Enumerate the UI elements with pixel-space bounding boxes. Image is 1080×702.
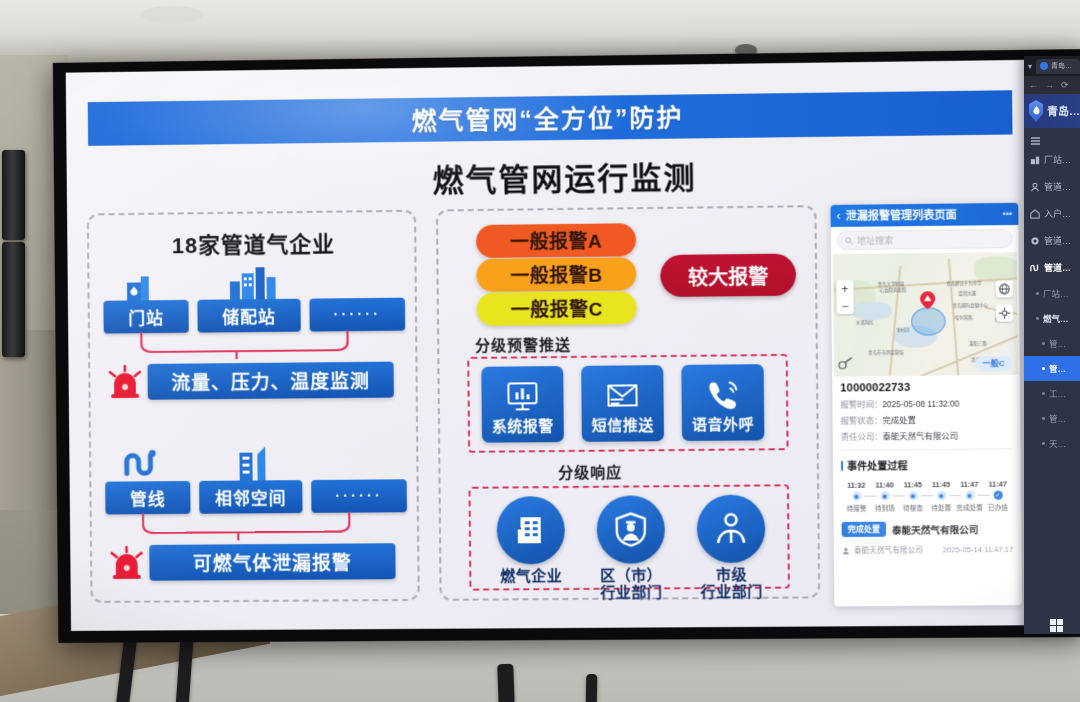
sidebar-item-label: 管道… [1044, 234, 1071, 247]
chip-gate-station[interactable]: 门站 [103, 300, 188, 334]
chip-more-1[interactable]: ······ [309, 298, 405, 332]
bullet-icon [1042, 417, 1045, 420]
detail-label: 报警状态： [841, 415, 883, 425]
sidebar-item-label: 入户… [1044, 207, 1071, 220]
process-entry: 完成处置 泰能天然气有限公司 泰能天然气有限公司 2025-05-14 11:4… [842, 521, 1014, 556]
projection-display: 燃气管网“全方位”防护 燃气管网运行监测 18家管道气企业 [53, 49, 1080, 643]
detail-value: 完成处置 [882, 415, 916, 425]
sidebar-item-label: 管道… [1044, 180, 1071, 193]
app-header-title: 泄漏报警管理列表页面 [846, 206, 998, 224]
map-zoom-controls[interactable]: + − [836, 280, 853, 314]
pipeline-icon [123, 449, 161, 479]
storage-station-icon [228, 265, 278, 301]
chair [586, 674, 598, 702]
map-label: 青岛市市场监管局 [868, 350, 903, 356]
connector-lines-2 [135, 512, 365, 546]
monitoring-result-1[interactable]: 流量、压力、温度监测 [148, 362, 394, 400]
browser-tab-strip: ▾ 青岛… [1024, 56, 1080, 76]
map-label: 青岛国际会展中心 [952, 303, 988, 309]
step-time: 11:47 [983, 480, 1011, 489]
sidebar-item-label: 厂站… [1044, 153, 1071, 166]
bullet-icon [1042, 367, 1045, 370]
arrow-left-icon[interactable]: ← [1029, 80, 1038, 90]
chevron-left-icon[interactable]: ‹ [837, 210, 841, 222]
pipeline-icon [1030, 263, 1040, 273]
timeline-step[interactable]: 11:47 完成处置 [955, 480, 984, 512]
left-panel: 18家管道气企业 [87, 210, 420, 603]
sidebar-subitem[interactable]: 管… [1024, 406, 1080, 431]
detail-value: 泰能天然气有限公司 [883, 431, 958, 442]
right-panel: 一般报警A 一般报警B 一般报警C 较大报警 分级预警推送 [436, 205, 820, 601]
card-label: 短信推送 [592, 414, 654, 436]
more-dots-icon[interactable]: ••• [1003, 209, 1013, 219]
circle-badge [596, 495, 665, 564]
presentation-slide: 燃气管网“全方位”防护 燃气管网运行监测 18家管道气企业 [66, 59, 1073, 631]
chip-storage-station[interactable]: 储配站 [197, 299, 300, 333]
sidebar-subitem-label: 燃气… [1043, 313, 1069, 325]
step-dot-done [993, 491, 1002, 500]
detail-value: 2025-05-08 11:32:00 [882, 399, 959, 410]
timeline-step[interactable]: 11:45 待核查 [899, 480, 928, 512]
app-title-bar: 青岛… [1024, 94, 1080, 128]
push-label: 分级预警推送 [475, 334, 571, 356]
chip-adjacent-space[interactable]: 相邻空间 [199, 480, 302, 514]
sidebar-item-pipeline-marker[interactable]: 管道… [1024, 173, 1080, 200]
org-label-2: 行业部门 [579, 584, 683, 602]
timeline-step[interactable]: 11:47 已办结 [983, 480, 1012, 512]
alarm-radius-circle [911, 307, 946, 335]
org-label: 燃气企业 [479, 568, 583, 586]
step-label: 待接警 [842, 503, 870, 513]
search-input[interactable]: 地址搜索 [837, 229, 1013, 250]
step-dot [965, 491, 974, 500]
chair [497, 664, 515, 702]
sidebar-subitem-selected[interactable]: 管… [1024, 356, 1080, 381]
arrow-right-icon[interactable]: → [1045, 80, 1054, 90]
adjacent-space-icon [235, 444, 275, 480]
ceiling-light [140, 6, 204, 24]
step-label: 已办结 [984, 502, 1012, 512]
alarm-level-badge: 一般C [975, 356, 1011, 371]
alarm-detail: 10000022733 一般C 报警时间：2025-05-08 11:32:00… [832, 375, 1021, 556]
envelope-icon [605, 380, 639, 410]
process-section-title: 事件处置过程 [841, 456, 1013, 472]
section-accent-bar [841, 460, 843, 470]
sidebar-item-label: 管道… [1044, 261, 1071, 274]
mobile-app-panel: ‹ 泄漏报警管理列表页面 ••• 地址搜索 [830, 203, 1022, 607]
org-label: 区（市） [579, 567, 683, 585]
alarm-level-a[interactable]: 一般报警A [476, 223, 636, 258]
sidebar-subitem-label: 厂站… [1043, 288, 1069, 300]
sidebar-subitem[interactable]: 天… [1024, 431, 1080, 456]
bullet-icon [1042, 392, 1045, 395]
gear-icon [1030, 236, 1040, 246]
app-sidebar: 厂站… 管道… 入户… 管道… [1024, 128, 1080, 634]
sidebar-subitem-label: 管… [1049, 413, 1066, 425]
home-icon [1030, 209, 1040, 219]
map-label: 哈尔滨路 [955, 315, 973, 321]
search-placeholder: 地址搜索 [857, 233, 893, 246]
org-label: 市级 [679, 567, 784, 585]
alarm-level-c[interactable]: 一般报警C [477, 291, 637, 326]
shield-flame-icon [1029, 100, 1043, 122]
sidebar-subitem[interactable]: 管… [1024, 331, 1080, 356]
card-sms-push[interactable]: 短信推送 [581, 365, 664, 442]
pipe-marker-icon [1030, 182, 1040, 192]
map-label: 李村河 [896, 328, 909, 334]
entry-header: 完成处置 泰能天然气有限公司 [842, 521, 1014, 537]
entry-user: 泰能天然气有限公司 [854, 544, 943, 556]
bullet-icon [1042, 442, 1045, 445]
alarm-marker-icon[interactable] [920, 291, 935, 309]
divider [841, 448, 1013, 450]
step-time: 11:32 [842, 481, 870, 490]
map-label: 嘉润大厦 [958, 291, 976, 297]
reload-icon[interactable]: ⟳ [1061, 80, 1069, 91]
chip-more-2[interactable]: ······ [311, 479, 407, 513]
user-icon [842, 547, 850, 555]
person-icon [714, 512, 748, 546]
sidebar-subitem-label: 管… [1049, 363, 1066, 375]
detail-row: 报警时间：2025-05-08 11:32:00 [840, 397, 1012, 411]
map-zoom-in-button[interactable]: + [836, 280, 853, 297]
phone-call-icon [706, 378, 740, 410]
display-screen: 燃气管网“全方位”防护 燃气管网运行监测 18家管道气企业 [66, 59, 1073, 631]
sidebar-subitem[interactable]: 燃气… [1024, 306, 1080, 331]
card-voice-call[interactable]: 语音外呼 [681, 364, 764, 441]
circle-badge [497, 496, 566, 564]
circle-badge [697, 494, 766, 563]
monitor-chart-icon [505, 380, 539, 412]
response-label: 分级响应 [558, 462, 622, 484]
org-gas-enterprise[interactable]: 燃气企业 [479, 496, 584, 586]
globe-icon [999, 283, 1010, 294]
banner-title: 燃气管网“全方位”防护 [411, 98, 683, 137]
hamburger-icon[interactable] [1024, 130, 1080, 146]
bullet-icon [1042, 342, 1045, 345]
chip-pipeline[interactable]: 管线 [105, 481, 190, 514]
flame-glyph [1031, 105, 1042, 117]
map-locate-button[interactable] [996, 304, 1013, 321]
step-time: 11:40 [870, 480, 898, 489]
locate-icon [999, 308, 1010, 319]
bullet-icon [1036, 292, 1039, 295]
step-dot [908, 491, 917, 500]
sidebar-item-pipe-settings[interactable]: 管道… [1024, 227, 1080, 254]
alarm-major[interactable]: 较大报警 [660, 254, 796, 298]
map-globe-button[interactable] [996, 280, 1013, 297]
flame-icon [1040, 62, 1048, 70]
sidebar-item-pipeline-active[interactable]: 管道… [1024, 254, 1080, 281]
browser-tab-title: 青岛… [1051, 61, 1072, 71]
page-title: 燃气管网运行监测 [67, 148, 1069, 205]
entry-status-badge: 完成处置 [842, 522, 886, 537]
layers-icon[interactable] [838, 356, 854, 370]
browser-tab[interactable]: 青岛… [1036, 59, 1080, 74]
process-timeline: 11:32 待接警 11:40 待到场 [841, 480, 1013, 513]
step-time: 11:45 [899, 480, 927, 489]
bullet-icon [1036, 317, 1039, 320]
detail-label: 报警时间： [840, 399, 882, 409]
step-label: 完成处置 [955, 502, 983, 512]
sidebar-subitem[interactable]: 厂站… [1024, 281, 1080, 306]
left-panel-title: 18家管道气企业 [89, 226, 419, 261]
card-label: 系统报警 [492, 415, 554, 437]
card-system-alarm[interactable]: 系统报警 [481, 366, 564, 443]
step-dot [937, 491, 946, 500]
search-icon [845, 236, 853, 244]
map-water [852, 302, 892, 320]
app-name: 青岛… [1047, 103, 1080, 119]
section-title-text: 事件处置过程 [847, 457, 908, 473]
station-icon [1030, 155, 1040, 165]
card-label: 语音外呼 [692, 413, 754, 435]
app-header: ‹ 泄漏报警管理列表页面 ••• [830, 203, 1018, 227]
timeline-step[interactable]: 11:45 待处置 [927, 480, 956, 512]
alarm-id: 10000022733 [840, 381, 1012, 395]
alarm-siren-icon [106, 364, 144, 400]
wall-speaker-upper [2, 150, 25, 240]
step-label: 待处置 [927, 502, 955, 512]
shield-officer-icon [614, 511, 648, 547]
sidebar-subitem-label: 工… [1049, 388, 1066, 400]
detail-row: 责任公司：泰能天然气有限公司 [841, 429, 1013, 442]
step-time: 11:45 [927, 480, 955, 489]
sidebar-item-station[interactable]: 厂站… [1024, 146, 1080, 173]
monitoring-result-2[interactable]: 可燃气体泄漏报警 [149, 543, 395, 581]
entry-subline: 泰能天然气有限公司 2025-05-14 11:47:17 [842, 544, 1014, 556]
left-chip-row-1: 门站 储配站 ······ [103, 298, 405, 334]
browser-nav-bar: ← → ⟳ [1024, 76, 1080, 94]
entry-company: 泰能天然气有限公司 [892, 522, 978, 537]
left-chip-row-2: 管线 相邻空间 ······ [105, 479, 407, 514]
chevron-down-icon[interactable]: ▾ [1028, 62, 1032, 71]
step-label: 待核查 [899, 502, 927, 512]
detail-row: 报警状态：完成处置 [841, 413, 1013, 427]
sidebar-subitem-label: 天… [1049, 438, 1066, 450]
conference-room-photo: 燃气管网“全方位”防护 燃气管网运行监测 18家管道气企业 [0, 0, 1080, 702]
org-city-department[interactable]: 市级 行业部门 [679, 494, 784, 601]
alarm-siren-icon [108, 545, 146, 581]
entry-time: 2025-05-14 11:47:17 [943, 545, 1014, 555]
connector-lines-1 [133, 330, 363, 364]
sidebar-item-household[interactable]: 入户… [1024, 200, 1080, 227]
gate-station-icon [123, 270, 157, 302]
step-dot [852, 492, 861, 501]
map-label: 心血管病医院 [880, 287, 907, 293]
timeline-step[interactable]: 11:32 待接警 [842, 481, 871, 513]
step-dot [880, 492, 889, 501]
step-time: 11:47 [955, 480, 983, 489]
map-label: 莱阳三路 [969, 341, 987, 347]
map-label: 水清沟区 [856, 320, 874, 326]
map-label: 青岛第五十九中学 [946, 281, 982, 287]
timeline-step[interactable]: 11:40 待到场 [870, 480, 899, 512]
org-district-department[interactable]: 区（市） 行业部门 [578, 495, 683, 602]
wall-speaker-lower [2, 242, 25, 357]
alarm-level-b[interactable]: 一般报警B [476, 257, 636, 292]
step-label: 待到场 [871, 502, 899, 512]
detail-label: 责任公司： [841, 431, 883, 441]
building-icon [514, 513, 548, 547]
windows-logo-icon[interactable] [1050, 619, 1063, 632]
map-zoom-out-button[interactable]: − [836, 297, 853, 314]
org-label-2: 行业部门 [679, 584, 784, 602]
browser-window: ▾ 青岛… ← → ⟳ 青岛… 厂站… [1024, 56, 1080, 634]
sidebar-subitem[interactable]: 工… [1024, 381, 1080, 406]
slide-banner: 燃气管网“全方位”防护 [88, 90, 1013, 146]
sidebar-subitem-label: 管… [1049, 338, 1066, 350]
